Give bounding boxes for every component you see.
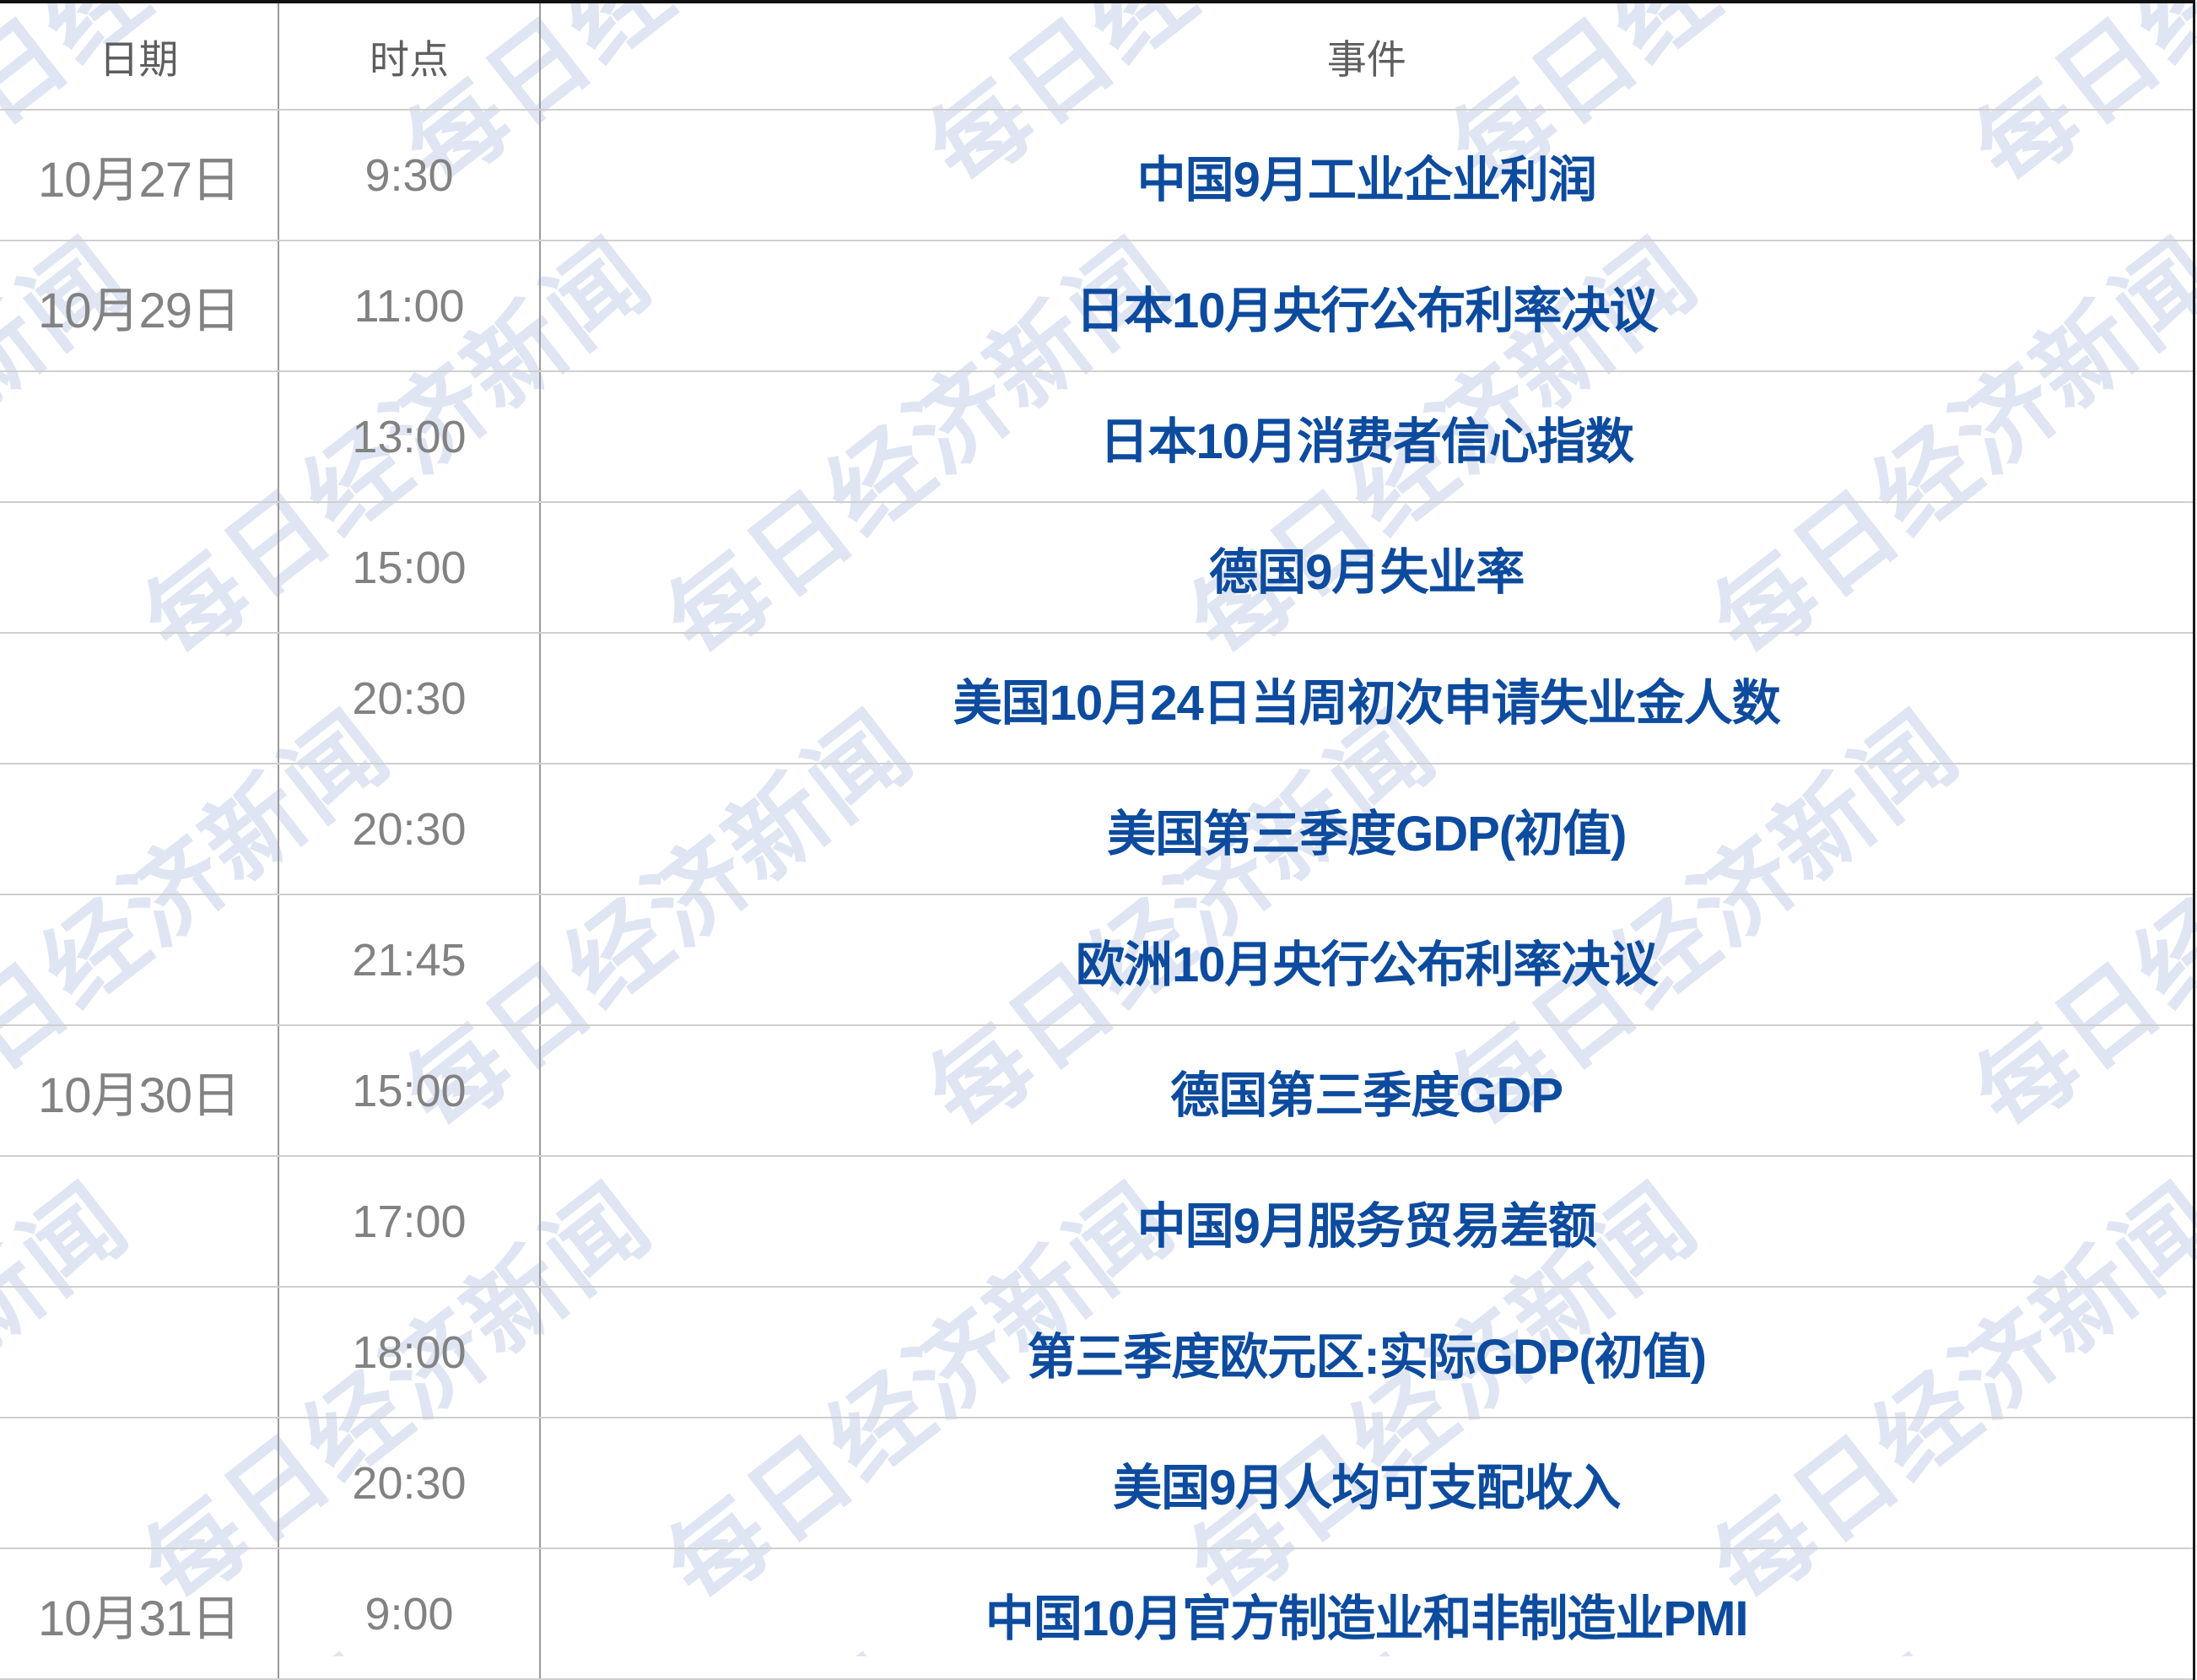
table-row: 15:00德国9月失业率 — [0, 502, 2194, 633]
column-header-event: 事件 — [540, 2, 2194, 110]
cell-date — [0, 1418, 278, 1548]
table-row: 10月27日9:30中国9月工业企业利润 — [0, 110, 2194, 240]
table-row: 20:30美国第三季度GDP(初值) — [0, 764, 2194, 894]
cell-date — [0, 894, 278, 1025]
cell-time: 9:00 — [278, 1548, 540, 1679]
cell-time: 20:30 — [278, 1418, 540, 1548]
cell-date — [0, 1287, 278, 1418]
cell-event: 美国9月人均可支配收入 — [540, 1418, 2194, 1548]
cell-date: 10月31日 — [0, 1548, 278, 1679]
table-row: 17:00中国9月服务贸易差额 — [0, 1156, 2194, 1287]
cell-event: 欧洲10月央行公布利率决议 — [540, 894, 2194, 1025]
cell-date: 10月27日 — [0, 110, 278, 240]
column-header-time: 时点 — [278, 2, 540, 110]
cell-event: 美国第三季度GDP(初值) — [540, 764, 2194, 894]
cell-time: 15:00 — [278, 1025, 540, 1156]
cell-date: 10月29日 — [0, 240, 278, 371]
cell-date — [0, 502, 278, 633]
table-row: 10月30日15:00德国第三季度GDP — [0, 1025, 2194, 1156]
cell-event: 中国9月服务贸易差额 — [540, 1156, 2194, 1287]
cell-event: 德国第三季度GDP — [540, 1025, 2194, 1156]
table-row: 10月29日11:00日本10月央行公布利率决议 — [0, 240, 2194, 371]
cell-event: 德国9月失业率 — [540, 502, 2194, 633]
table-row: 20:30美国10月24日当周初次申请失业金人数 — [0, 633, 2194, 764]
cell-date — [0, 633, 278, 764]
table-row: 13:00日本10月消费者信心指数 — [0, 371, 2194, 502]
cell-date: 10月30日 — [0, 1025, 278, 1156]
cell-event: 第三季度欧元区:实际GDP(初值) — [540, 1287, 2194, 1418]
cell-time: 13:00 — [278, 371, 540, 502]
cell-event: 美国10月24日当周初次申请失业金人数 — [540, 633, 2194, 764]
cell-event: 日本10月央行公布利率决议 — [540, 240, 2194, 371]
table-body: 10月27日9:30中国9月工业企业利润10月29日11:00日本10月央行公布… — [0, 110, 2194, 1679]
cell-time: 15:00 — [278, 502, 540, 633]
cell-date — [0, 764, 278, 894]
header-row: 日期 时点 事件 — [0, 2, 2194, 110]
cell-time: 17:00 — [278, 1156, 540, 1287]
table-row: 21:45欧洲10月央行公布利率决议 — [0, 894, 2194, 1025]
cell-time: 21:45 — [278, 894, 540, 1025]
cell-event: 日本10月消费者信心指数 — [540, 371, 2194, 502]
economic-calendar-table: 日期 时点 事件 10月27日9:30中国9月工业企业利润10月29日11:00… — [0, 0, 2195, 1680]
table-row: 20:30美国9月人均可支配收入 — [0, 1418, 2194, 1548]
cell-time: 9:30 — [278, 110, 540, 240]
cell-time: 11:00 — [278, 240, 540, 371]
cell-time: 20:30 — [278, 764, 540, 894]
cell-event: 中国10月官方制造业和非制造业PMI — [540, 1548, 2194, 1679]
table-header: 日期 时点 事件 — [0, 2, 2194, 110]
cell-time: 20:30 — [278, 633, 540, 764]
table-row: 10月31日9:00中国10月官方制造业和非制造业PMI — [0, 1548, 2194, 1679]
cell-time: 18:00 — [278, 1287, 540, 1418]
cell-date — [0, 371, 278, 502]
cell-date — [0, 1156, 278, 1287]
table-row: 18:00第三季度欧元区:实际GDP(初值) — [0, 1287, 2194, 1418]
column-header-date: 日期 — [0, 2, 278, 110]
cell-event: 中国9月工业企业利润 — [540, 110, 2194, 240]
